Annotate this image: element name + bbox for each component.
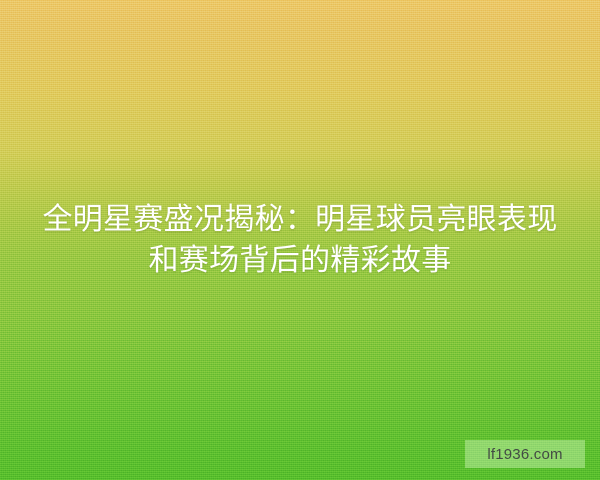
watermark-chip: lf1936.com — [465, 440, 585, 468]
watermark-text: lf1936.com — [487, 447, 562, 462]
title-block: 全明星赛盛况揭秘：明星球员亮眼表现和赛场背后的精彩故事 — [0, 0, 600, 480]
cover-image: 全明星赛盛况揭秘：明星球员亮眼表现和赛场背后的精彩故事 lf1936.com — [0, 0, 600, 480]
page-title: 全明星赛盛况揭秘：明星球员亮眼表现和赛场背后的精彩故事 — [30, 199, 570, 281]
